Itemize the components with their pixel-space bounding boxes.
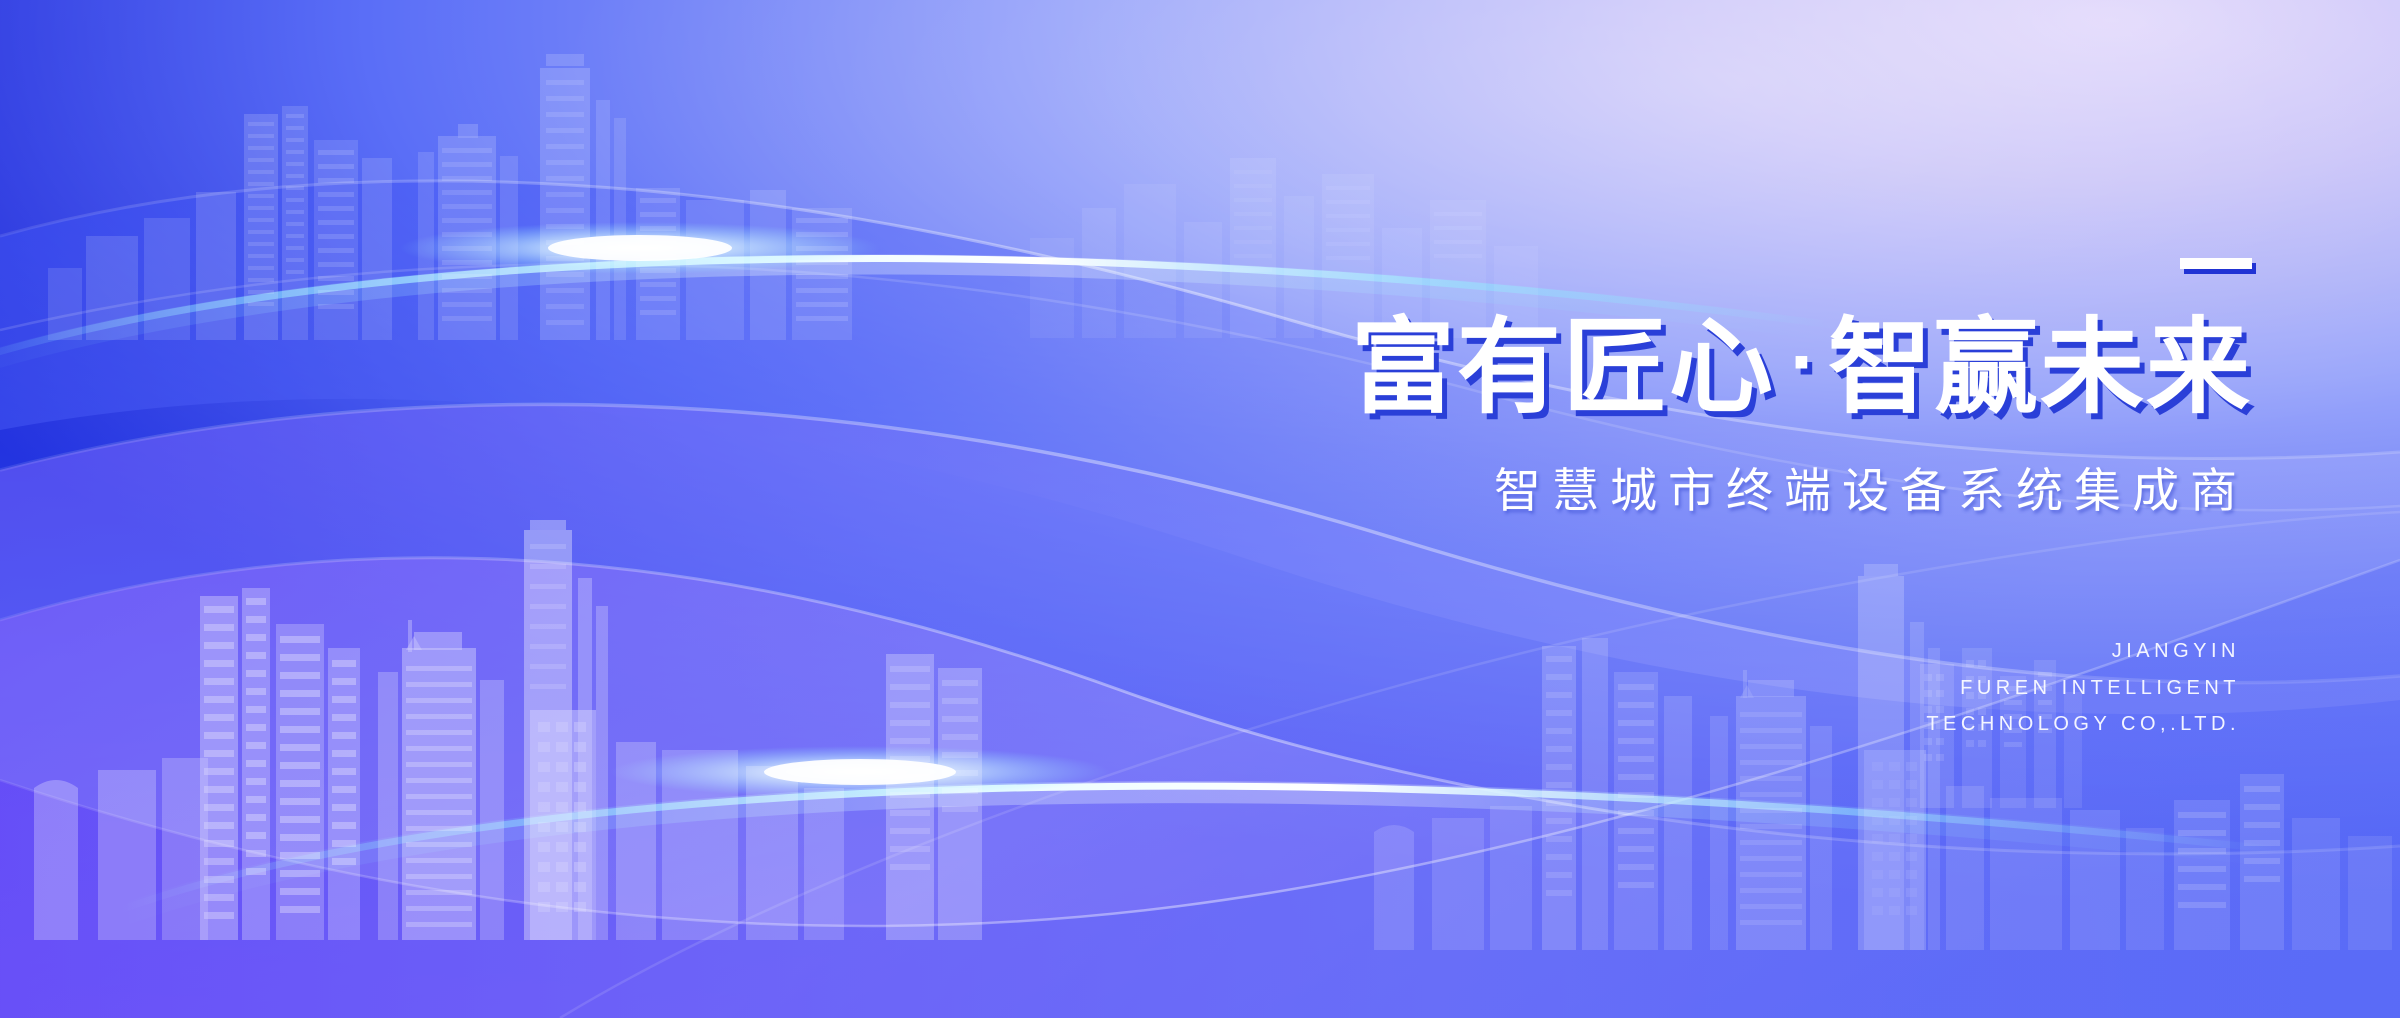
company-name-line-2: FUREN INTELLIGENT [1112, 670, 2240, 706]
page-title: 富有匠心·智赢未来 [1112, 312, 2252, 422]
promo-banner: 富有匠心·智赢未来 智慧城市终端设备系统集成商 JIANGYIN FUREN I… [0, 0, 2400, 1018]
headline-part-left: 富有匠心 [1351, 306, 1775, 428]
accent-dash-decoration [2180, 258, 2252, 269]
headline-part-right: 智赢未来 [1828, 306, 2252, 428]
company-name-line-3: TECHNOLOGY CO,.LTD. [1112, 706, 2240, 742]
company-name-line-1: JIANGYIN [1112, 633, 2240, 669]
page-subtitle: 智慧城市终端设备系统集成商 [1112, 452, 2252, 521]
company-name-block: JIANGYIN FUREN INTELLIGENT TECHNOLOGY CO… [1112, 633, 2252, 742]
headline-text-block: 富有匠心·智赢未来 智慧城市终端设备系统集成商 JIANGYIN FUREN I… [1112, 258, 2252, 742]
headline-separator-dot: · [1775, 324, 1828, 401]
